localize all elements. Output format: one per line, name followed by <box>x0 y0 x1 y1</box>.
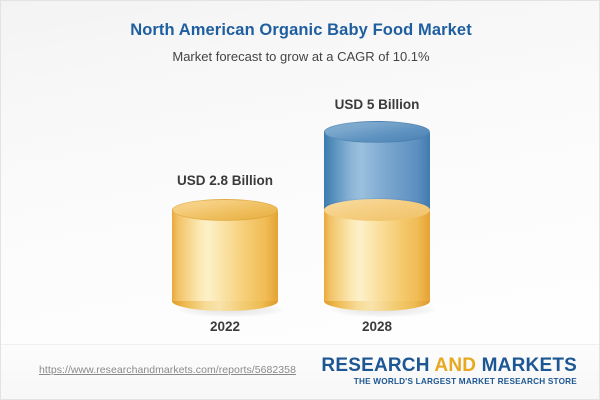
infographic-chart: North American Organic Baby Food Market … <box>0 0 600 400</box>
logo-tagline: THE WORLD'S LARGEST MARKET RESEARCH STOR… <box>321 378 577 386</box>
research-and-markets-logo[interactable]: RESEARCH AND MARKETS THE WORLD'S LARGEST… <box>321 356 577 386</box>
category-label-2028: 2028 <box>297 319 457 335</box>
logo-word-and: AND <box>434 355 481 376</box>
cylinder-top-cap-2028 <box>324 121 430 143</box>
category-label-2022: 2022 <box>145 319 305 335</box>
cylinder-2022[interactable] <box>172 199 278 313</box>
logo-word-markets: MARKETS <box>482 355 577 376</box>
plot-area: USD 2.8 Billion 2022 USD 5 Billion <box>1 1 600 346</box>
footer-bar: https://www.researchandmarkets.com/repor… <box>1 344 600 399</box>
report-url-link[interactable]: https://www.researchandmarkets.com/repor… <box>39 364 296 376</box>
cylinder-2028[interactable] <box>324 121 430 313</box>
segment-yellow-2028 <box>324 210 430 301</box>
cylinder-body-2022 <box>172 210 278 301</box>
cylinder-divider-cap-2028 <box>324 199 430 221</box>
logo-wordmark: RESEARCH AND MARKETS <box>321 356 577 375</box>
value-label-2028: USD 5 Billion <box>297 97 457 113</box>
logo-word-research: RESEARCH <box>321 355 434 376</box>
cylinder-top-cap-2022 <box>172 199 278 221</box>
value-label-2022: USD 2.8 Billion <box>145 173 305 189</box>
segment-yellow-2022 <box>172 210 278 301</box>
